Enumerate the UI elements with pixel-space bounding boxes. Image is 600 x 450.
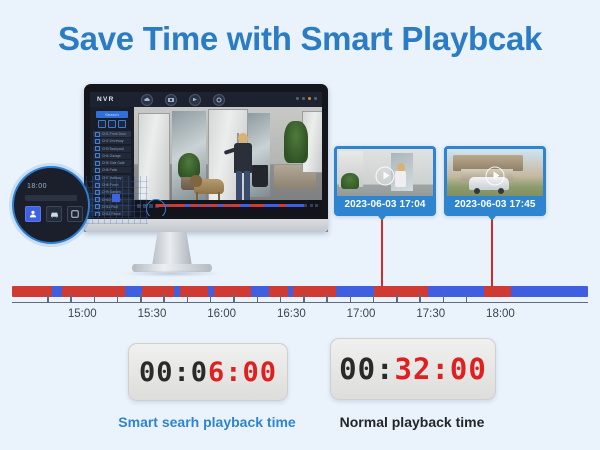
playback-strip-segment	[250, 204, 264, 207]
nvr-toolbar	[141, 94, 225, 106]
smart-playback-timer: 00:06:00	[128, 343, 288, 401]
timeline-tick	[70, 294, 71, 302]
playback-strip-segment	[169, 204, 186, 207]
play-circle-icon[interactable]	[376, 166, 395, 185]
window-controls[interactable]	[296, 97, 317, 100]
camera-label: CH1 Front Door	[102, 132, 126, 136]
cloud-icon[interactable]	[141, 94, 153, 106]
normal-playback-caption: Normal playback time	[340, 414, 485, 430]
handbag	[252, 165, 268, 187]
playback-icon[interactable]	[189, 94, 201, 106]
timeline-labels: 15:0015:3016:0016:3017:0017:3018:00	[12, 308, 588, 324]
plant-right	[284, 121, 308, 163]
smart-timer-digits: 00:06:00	[139, 357, 277, 388]
timeline-tick	[303, 294, 304, 302]
timeline-axis	[12, 302, 588, 303]
sidebar-filter-row	[90, 120, 134, 128]
camera-list-item[interactable]: CH1 Front Door	[93, 131, 131, 137]
thumb-1-car-wheel-1	[474, 188, 480, 194]
normal-playback-timer: 00:32:00	[330, 338, 496, 400]
grid-icon[interactable]	[118, 120, 126, 128]
normal-timer-red: 32:00	[395, 352, 487, 386]
normal-timer-dark: 00:	[339, 352, 394, 386]
calendar-icon[interactable]	[98, 120, 106, 128]
camera-list-item[interactable]: CH5 Side Gate	[93, 160, 131, 166]
camera-list-item[interactable]: CH3 Backyard	[93, 146, 131, 152]
playback-strip-segment	[209, 204, 219, 207]
page-title: Save Time with Smart Playbcak	[0, 20, 600, 58]
camera-checkbox-icon[interactable]	[95, 168, 100, 173]
magnifier-time-label: 18:00	[27, 183, 47, 190]
timeline-tick	[443, 294, 444, 302]
timeline-tick	[257, 294, 258, 302]
person-leg-2	[244, 171, 250, 201]
timeline-tick	[117, 294, 118, 302]
camera-label: CH6 Patio	[102, 168, 117, 172]
search-button[interactable]: Search	[96, 111, 128, 118]
camera-label: CH2 Driveway	[102, 139, 124, 143]
camera-checkbox-icon[interactable]	[95, 161, 100, 166]
timeline-tick	[47, 294, 48, 302]
timeline-tick	[373, 294, 374, 302]
timeline-tick	[280, 294, 281, 302]
nvr-logo: NVR	[97, 96, 115, 103]
vehicle-filter-icon[interactable]	[46, 206, 62, 222]
close-icon[interactable]	[314, 97, 317, 100]
timeline-tick	[419, 294, 420, 302]
timeline-tick	[210, 294, 211, 302]
smart-timer-red: 6:00	[208, 357, 277, 388]
thumbnail-connector-0	[381, 220, 383, 288]
dog-head	[190, 175, 202, 187]
person-filter-icon[interactable]	[25, 206, 41, 222]
playback-strip-segment	[286, 204, 306, 207]
timeline-tick-label: 15:30	[138, 308, 167, 320]
timeline-tick	[187, 294, 188, 302]
timeline-tick	[233, 294, 234, 302]
maximize-icon[interactable]	[302, 97, 305, 100]
person-leg-1	[236, 171, 242, 201]
timeline-tick	[140, 294, 141, 302]
playback-strip-segment	[200, 204, 208, 207]
snapshot-icon[interactable]	[304, 204, 307, 207]
timeline-tick	[396, 294, 397, 302]
timeline-tick-label: 16:30	[277, 308, 306, 320]
camera-label: CH3 Backyard	[102, 147, 124, 151]
settings-icon[interactable]	[213, 94, 225, 106]
playback-bar[interactable]	[134, 200, 322, 216]
search-button-label: Search	[105, 112, 119, 117]
camera-checkbox-icon[interactable]	[95, 146, 100, 151]
camera-list-item[interactable]: CH6 Patio	[93, 167, 131, 173]
monitor-stand-neck	[152, 232, 192, 266]
thumb-0-plant	[341, 173, 359, 189]
camera-checkbox-icon[interactable]	[95, 139, 100, 144]
magnifier-filter-buttons	[25, 206, 83, 222]
normal-timer-digits: 00:32:00	[339, 352, 487, 386]
timeline-tick	[163, 294, 164, 302]
smart-timer-dark: 00:0	[139, 357, 208, 388]
empty-checkbox-icon[interactable]	[67, 206, 83, 222]
record-icon[interactable]	[308, 97, 311, 100]
camera-label: CH5 Side Gate	[102, 161, 125, 165]
minimize-icon[interactable]	[296, 97, 299, 100]
timeline-tick-label: 17:30	[416, 308, 445, 320]
camera-icon[interactable]	[165, 94, 177, 106]
camera-label: CH4 Garage	[102, 154, 121, 158]
timeline-tick-label: 16:00	[207, 308, 236, 320]
video-viewport[interactable]	[134, 107, 322, 216]
playback-timeline-strip[interactable]	[156, 204, 306, 207]
play-circle-icon[interactable]	[486, 166, 505, 185]
timeline-tick	[350, 294, 351, 302]
thumb-0-person-body	[395, 171, 406, 187]
event-thumbnail-1[interactable]: 2023-06-03 17:45	[444, 146, 546, 216]
timeline-tick	[326, 294, 327, 302]
camera-checkbox-icon[interactable]	[95, 132, 100, 137]
timeline-tick	[94, 294, 95, 302]
playback-strip-segment	[240, 204, 250, 207]
smart-filter-magnifier: 18:00	[12, 166, 90, 244]
playback-strip-segment	[190, 204, 198, 207]
timeline-tick	[466, 294, 467, 302]
thumbnail-connector-1	[491, 220, 493, 288]
magnifier-focus-ring	[146, 199, 166, 216]
decorative-grid-cell	[112, 194, 120, 202]
timeline-tick-label: 17:00	[347, 308, 376, 320]
channel-icon[interactable]	[108, 120, 116, 128]
camera-checkbox-icon[interactable]	[95, 153, 100, 158]
playback-strip-segment	[264, 204, 279, 207]
thumb-0-timestamp: 2023-06-03 17:04	[337, 196, 433, 213]
smart-playback-caption: Smart searh playback time	[118, 414, 295, 430]
fullscreen-icon[interactable]	[315, 204, 318, 207]
thumb-1-timestamp: 2023-06-03 17:45	[447, 196, 543, 213]
thumb-1-car-wheel-2	[498, 188, 504, 194]
camera-list-item[interactable]: CH2 Driveway	[93, 138, 131, 144]
camera-list-item[interactable]: CH4 Garage	[93, 153, 131, 159]
magnifier-timeline-strip	[25, 195, 77, 201]
event-thumbnail-0[interactable]: 2023-06-03 17:04	[334, 146, 436, 216]
nvr-titlebar: NVR	[90, 92, 322, 107]
monitor-shadow	[122, 270, 222, 277]
clip-icon[interactable]	[310, 204, 313, 207]
playback-right-controls[interactable]	[304, 204, 318, 207]
timeline-tick-label: 18:00	[486, 308, 515, 320]
poster-root: Save Time with Smart Playbcak NVR	[0, 0, 600, 450]
timeline[interactable]: 15:0015:3016:0016:3017:0017:3018:00	[12, 286, 588, 297]
playback-strip-segment	[279, 204, 286, 207]
person-torso	[234, 143, 252, 173]
playback-strip-segment	[229, 204, 240, 207]
timeline-tick-label: 15:00	[68, 308, 97, 320]
